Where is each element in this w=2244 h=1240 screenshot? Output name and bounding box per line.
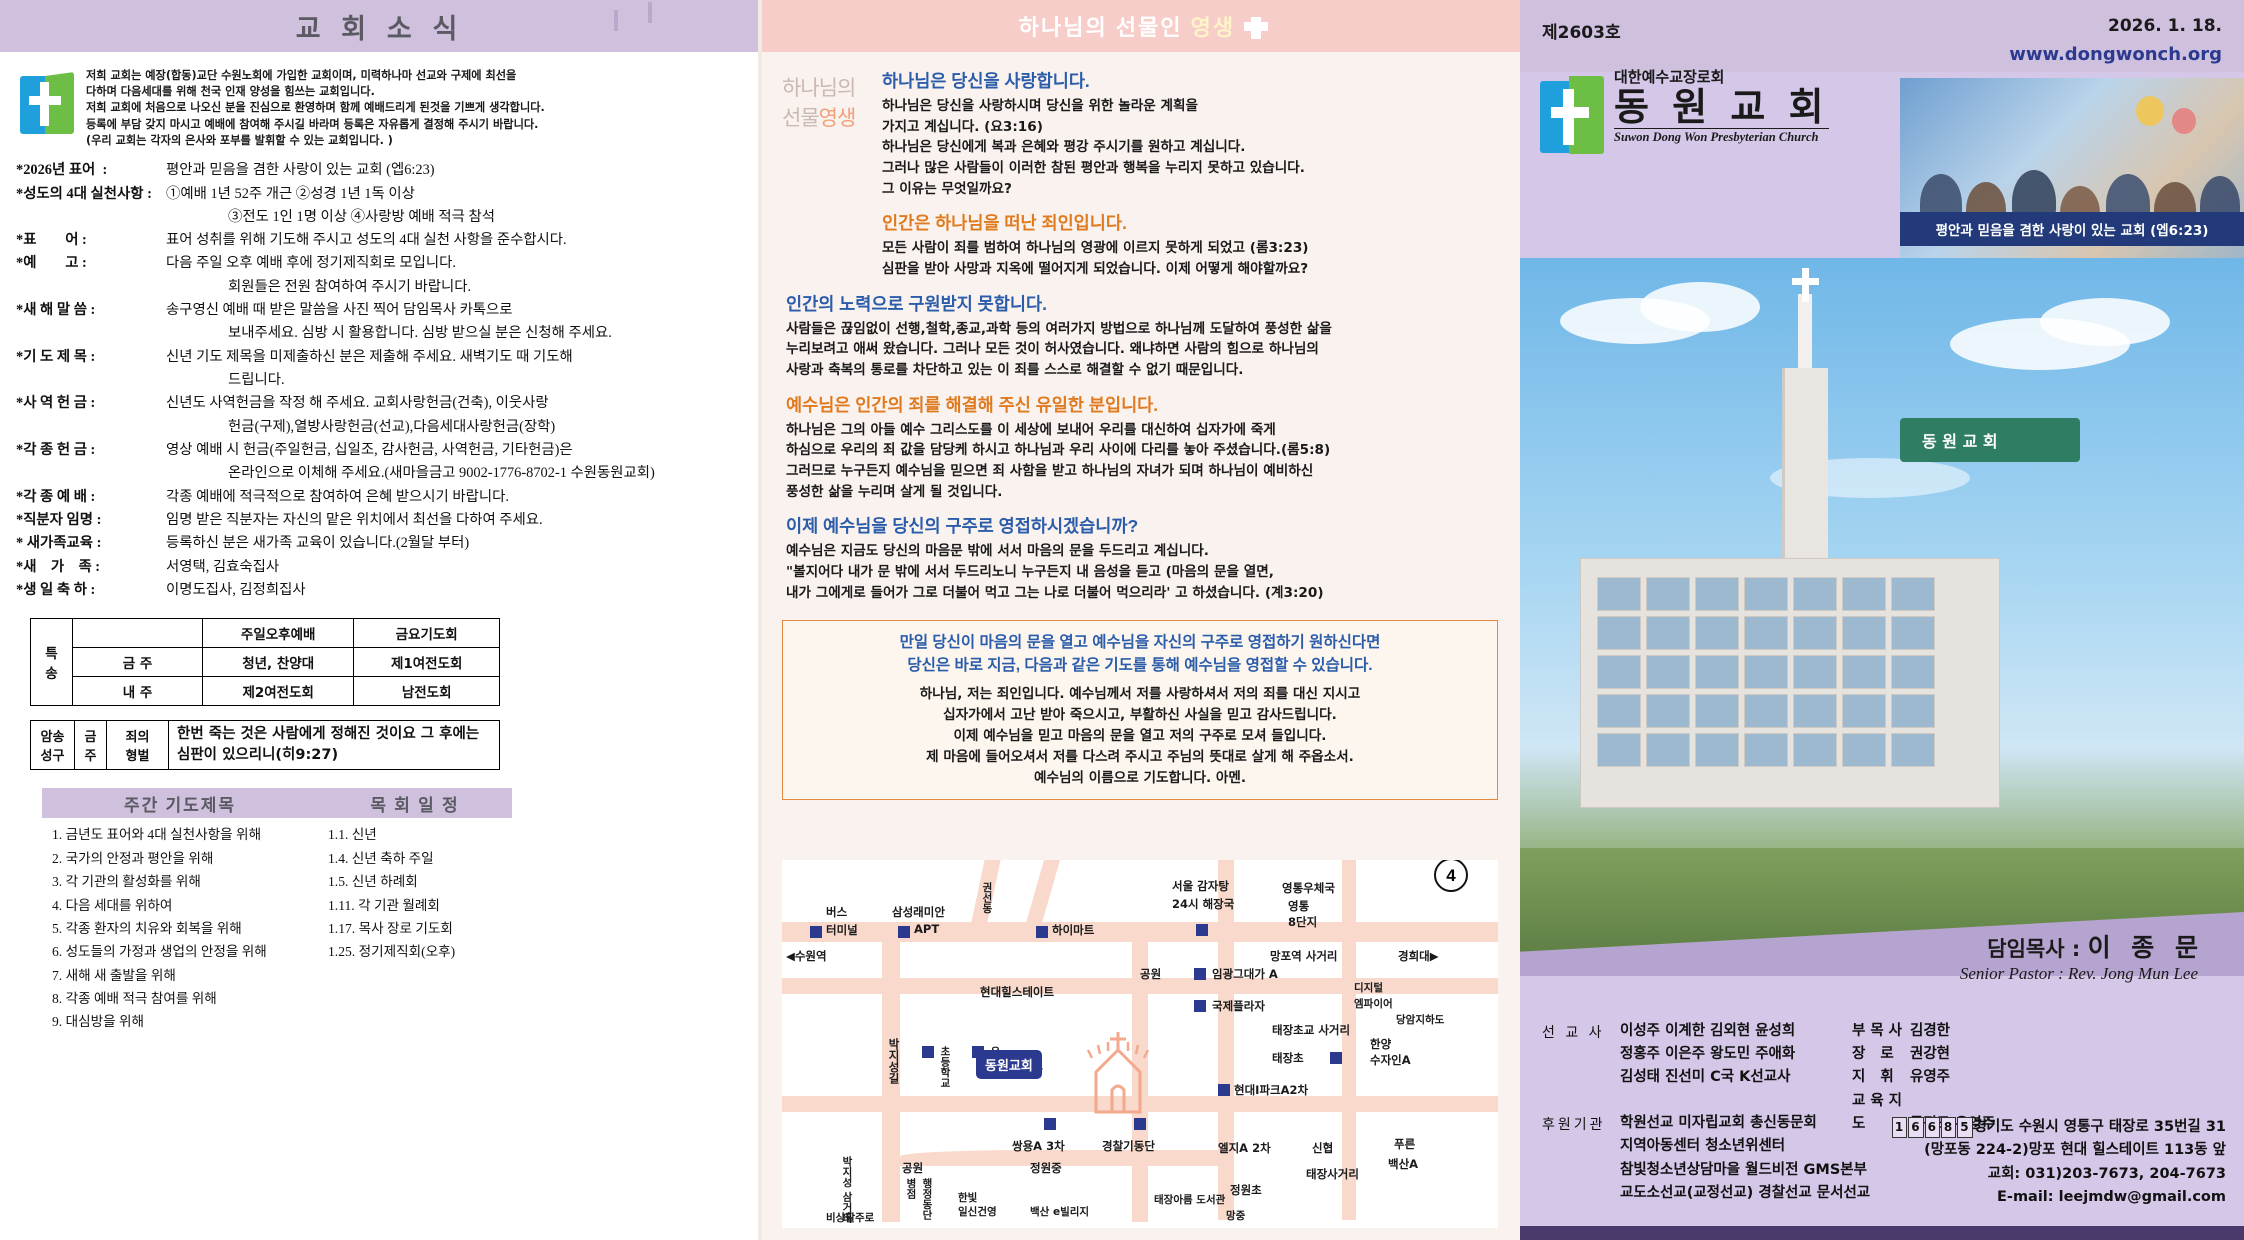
notice-label: *표 어 : [16,229,166,252]
missionaries-block: 선 교 사 이성주 이계한 김외현 윤성희 정홍주 이은주 왕도민 주애화 김성… [1542,1020,1795,1090]
missionary-list: 이성주 이계한 김외현 윤성희 정홍주 이은주 왕도민 주애화 김성태 진선미 … [1620,1020,1795,1090]
masthead-footer: 선 교 사 이성주 이계한 김외현 윤성희 정홍주 이은주 왕도민 주애화 김성… [1520,1008,2244,1240]
gospel-line: 하심으로 우리의 죄 값을 담당케 하시고 하나님과 우리 사이에 다리를 놓아… [786,440,1494,461]
gospel-line: 내가 그에게로 들어가 그로 더불어 먹고 그는 나로 더불어 먹으리라' 고 … [786,583,1494,604]
gospel-paragraph: 모든 사람이 죄를 범하여 하나님의 영광에 이르지 못하게 되었고 (롬3:2… [882,238,1494,279]
prayer-item: 1. 금년도 표어와 4대 실천사항을 위해 [42,823,318,846]
notice-row: * 새가족교육 :등록하신 분은 새가족 교육이 있습니다.(2월달 부터) [16,532,744,555]
church-logo-text: 대한예수교장로회 동 원 교 회 Suwon Dong Won Presbyte… [1614,66,1829,154]
schedule-item: 1.1. 신년 [318,823,512,846]
notice-row: *표 어 :표어 성취를 위해 기도해 주시고 성도의 4대 실천 사항을 준수… [16,229,744,252]
gospel-banner: 하나님의 선물인 영생 [760,0,1520,52]
staff-name: 유영주 [1910,1069,1950,1085]
column-divider [758,0,762,1240]
missionary-line: 이성주 이계한 김외현 윤성희 [1620,1020,1795,1043]
schedule-item: 1.11. 각 기관 월례회 [318,894,512,917]
staff-role: 지 휘 [1852,1066,1910,1089]
staff-role: 장 로 [1852,1043,1910,1066]
map-label: 당암지하도 [1396,1012,1444,1027]
prayer-item: 9. 대심방을 위해 [42,1010,318,1033]
postal-code: 16685 [1892,1116,1974,1139]
notice-value: 이명도집사, 김정희집사 [166,579,744,602]
map-label: 박지성길 [886,1038,902,1084]
pastor-name: 이 종 문 [2088,933,2204,962]
special-c2-cell: 제1여전도회 [354,648,500,677]
intro-block: 저희 교회는 예장(합동)교단 수원노회에 가입한 교회이며, 미력하나마 선교… [0,52,760,153]
gospel-banner-title: 하나님의 선물인 영생 [1019,10,1262,42]
pastor-name-english: Senior Pastor : Rev. Jong Mun Lee [1960,964,2198,984]
notice-value: 신년도 사역헌금을 작정 해 주세요. 교회사랑헌금(건축), 이웃사랑 [166,392,744,415]
gospel-line: 가지고 계십니다. (요3:16) [882,117,1494,138]
church-building-icon [1078,1028,1158,1118]
staff-name: 권강현 [1910,1046,1950,1062]
prayer-item: 4. 다음 세대를 위하여 [42,894,318,917]
church-news-column: 교 회 소 식 저희 교회는 예장(합동)교단 수원노회에 가입한 교회이며, … [0,0,760,1240]
support-list: 학원선교 미자립교회 총신동문회 지역아동센터 청소년위센터 참빛청소년상담마을… [1620,1112,1870,1206]
intro-text: 저희 교회는 예장(합동)교단 수원노회에 가입한 교회이며, 미력하나마 선교… [86,68,545,149]
footer-strip [1520,1226,2244,1240]
special-song-row-label: 특 송 [31,619,73,706]
gospel-heading: 인간의 노력으로 구원받지 못합니다. [786,291,1494,316]
gospel-line: 하나님은 당신을 사랑하시며 당신을 위한 놀라운 계획을 [882,96,1494,117]
notice-value: 각종 예배에 적극적으로 참여하여 은혜 받으시기 바랍니다. [166,486,744,509]
notice-label: * 새가족교육 : [16,532,166,555]
postal-digit: 5 [1957,1117,1972,1138]
memory-verse-text: 한번 죽는 것은 사람에게 정해진 것이요 그 후에는 심판이 있으리니(히9:… [169,721,500,770]
invitation-box: 만일 당신이 마음의 문을 열고 예수님을 자신의 구주로 영접하기 원하신다면… [782,620,1498,800]
issue-date: 2026. 1. 18. [2108,16,2222,36]
church-name-english: Suwon Dong Won Presbyterian Church [1614,128,1829,145]
church-roof-sign-text: 동 원 교 회 [1922,428,1998,452]
page-number-badge: 4 [1434,860,1468,892]
map-label: 망중 [1226,1208,1245,1223]
prayer-item: 8. 각종 예배 적극 참여를 위해 [42,987,318,1010]
prayer-and-schedule-block: 주간 기도제목 목 회 일 정 1. 금년도 표어와 4대 실천사항을 위해2.… [42,788,512,1033]
map-label: 8단지 [1288,914,1317,930]
notice-label: *직분자 임명 : [16,509,166,532]
memory-verse-table: 암송 성구 금 주 죄의 형벌 한번 죽는 것은 사람에게 정해진 것이요 그 … [30,720,500,770]
gospel-line: 사랑과 축복의 통로를 차단하고 있는 이 죄를 스스로 해결할 수 없기 때문… [786,360,1494,381]
notice-value: 헌금(구제),열방사랑헌금(선교),다음세대사랑헌금(장학) [166,416,744,439]
map-label: 쌍용A 3차 [1012,1138,1065,1154]
memory-verse-label: 암송 성구 [31,721,75,770]
map-label: 서울 감자탕 [1172,878,1229,894]
envelope-small-icon [648,4,652,22]
prayer-item: 7. 새해 새 출발을 위해 [42,964,318,987]
map-label: 한양 [1370,1036,1391,1052]
gospel-line: 사람들은 끊임없이 선행,철학,종교,과학 등의 여러가지 방법으로 하나님께 … [786,319,1494,340]
notice-value: 평안과 믿음을 겸한 사랑이 있는 교회 (엡6:23) [166,159,744,182]
prayer-schedule-body: 1. 금년도 표어와 4대 실천사항을 위해2. 국가의 안정과 평안을 위해3… [42,818,512,1033]
gospel-banner-title-a: 하나님의 선물인 [1019,15,1191,40]
notice-label: *새 해 말 씀 : [16,299,166,322]
invitation-prayer-line: 십자가에서 고난 받아 죽으시고, 부활하신 사실을 믿고 감사드립니다. [797,705,1483,726]
notice-value: 보내주세요. 심방 시 활용합니다. 심방 받으실 분은 신청해 주세요. [166,322,744,345]
church-door-cross-icon [20,72,74,134]
gospel-line: "볼지어다 내가 문 밖에 서서 두드리노니 누구든지 내 음성을 듣고 (마음… [786,562,1494,583]
gift-label-line1: 하나님의 [782,72,878,102]
church-name: 동 원 교 회 [1614,88,1829,126]
notice-row: *생 일 축 하 :이명도집사, 김정희집사 [16,579,744,602]
notice-value: 서영택, 김효숙집사 [166,556,744,579]
notice-value: 회원들은 전원 참여하여 주시기 바랍니다. [166,276,744,299]
notice-label: *생 일 축 하 : [16,579,166,602]
church-logo-block: 대한예수교장로회 동 원 교 회 Suwon Dong Won Presbyte… [1540,66,1829,154]
notice-row: *각 종 예 배 :각종 예배에 적극적으로 참여하여 은혜 받으시기 바랍니다… [16,486,744,509]
gospel-line: 예수님은 지금도 당신의 마음문 밖에 서서 마음의 문을 두드리고 계십니다. [786,541,1494,562]
pastor-bar: 담임목사 : 이 종 문 Senior Pastor : Rev. Jong M… [1520,920,2244,1012]
location-map: 4 버스 터미널 삼성래미안 APT 권선동 하이마트 ◀수원역 서울 감자탕 … [782,860,1498,1228]
map-label: 정원초 [1230,1182,1262,1198]
gift-label-2b: 영생 [819,106,856,130]
issue-number: 제2603호 [1542,18,1621,43]
map-label: 푸른 [1394,1136,1415,1152]
church-spire [1798,294,1812,374]
notice-label: *예 고 : [16,252,166,275]
map-label: 태장사거리 [1306,1166,1359,1182]
notice-row: ③전도 1인 1명 이상 ④사랑방 예배 적극 참석 [16,206,744,229]
map-label: 현대I파크A2차 [1234,1082,1308,1098]
address-street: 경기도 수원시 영통구 태장로 35번길 31 [1974,1119,2226,1135]
notice-label: *사 역 헌 금 : [16,392,166,415]
support-line: 학원선교 미자립교회 총신동문회 [1620,1112,1870,1135]
notice-row: *사 역 헌 금 :신년도 사역헌금을 작정 해 주세요. 교회사랑헌금(건축)… [16,392,744,415]
intro-line: 다하며 다음세대를 위해 천국 인재 양성을 힘쓰는 교회입니다. [86,84,545,100]
masthead-top-bar: 제2603호 2026. 1. 18. www.dongwonch.org [1520,0,2244,72]
masthead-column: 제2603호 2026. 1. 18. www.dongwonch.org 대한… [1520,0,2244,1240]
map-label: 태장초교 사거리 [1272,1022,1350,1038]
church-door-cross-icon [1540,76,1604,154]
table-row: 특 송 주일오후예배 금요기도회 [31,619,500,648]
map-label: 망포역 사거리 [1270,948,1337,964]
phone-line: 교회: 031)203-7673, 204-7673 [1892,1163,2226,1186]
notice-label: *성도의 4대 실천사항 : [16,183,166,206]
gospel-banner-title-b: 영생 [1191,15,1235,40]
notice-row: *각 종 헌 금 :영상 예배 시 헌금(주일헌금, 십일조, 감사헌금, 사역… [16,439,744,462]
map-label: 엠파이어 [1354,996,1393,1011]
gospel-line: 하나님은 당신에게 복과 은혜와 평강 주시기를 원하고 계십니다. [882,137,1494,158]
church-main-building [1580,558,2000,808]
gospel-line: 심판을 받아 사망과 지옥에 떨어지게 되었습니다. 이제 어떻게 해야할까요? [882,259,1494,280]
support-label: 후원기관 [1542,1112,1620,1206]
map-label: 경희대▶ [1398,948,1439,964]
gospel-heading: 하나님은 당신을 사랑합니다. [882,68,1494,93]
intro-line: 저희 교회는 예장(합동)교단 수원노회에 가입한 교회이며, 미력하나마 선교… [86,68,545,84]
invitation-heading-line: 만일 당신이 마음의 문을 열고 예수님을 자신의 구주로 영접하기 원하신다면 [797,631,1483,654]
map-label: 일신건영 [958,1204,997,1219]
map-label: 정원중 [1030,1160,1062,1176]
staff-name: 김경한 [1910,1023,1950,1039]
memory-verse-topic: 죄의 형벌 [107,721,169,770]
map-label: ◀수원역 [786,948,827,964]
gospel-line: 그 이유는 무엇일까요? [882,179,1494,200]
gospel-line: 모든 사람이 죄를 범하여 하나님의 영광에 이르지 못하게 되었고 (롬3:2… [882,238,1494,259]
table-row: 내 주 제2여전도회 남전도회 [31,677,500,706]
gospel-paragraph: 하나님은 당신을 사랑하시며 당신을 위한 놀라운 계획을가지고 계십니다. (… [882,96,1494,199]
missionary-label: 선 교 사 [1542,1020,1620,1090]
map-label: APT [914,922,939,936]
staff-row: 장 로권강현 [1852,1043,1995,1066]
notice-label: *2026년 표어 : [16,159,166,182]
church-building-photo: 동 원 교 회 [1520,258,2244,958]
notice-row: 보내주세요. 심방 시 활용합니다. 심방 받으실 분은 신청해 주세요. [16,322,744,345]
map-label: 태장초 [1272,1050,1304,1066]
address-block: 16685경기도 수원시 영통구 태장로 35번길 31 (망포동 224-2)… [1892,1116,2226,1210]
gospel-line: 그러나 많은 사람들이 이러한 참된 평안과 행복을 누리지 못하고 있습니다. [882,158,1494,179]
map-label: 국제플라자 [1212,998,1265,1014]
intro-line: 저희 교회에 처음으로 나오신 분을 진심으로 환영하며 함께 예배드리게 된것… [86,100,545,116]
prayer-item: 5. 각종 환자의 치유와 회복을 위해 [42,917,318,940]
notice-value: 표어 성취를 위해 기도해 주시고 성도의 4대 실천 사항을 준수합시다. [166,229,744,252]
notice-row: 헌금(구제),열방사랑헌금(선교),다음세대사랑헌금(장학) [16,416,744,439]
map-label: 백산A [1388,1156,1418,1172]
map-label: 하이마트 [1052,922,1094,938]
notice-label: *기 도 제 목 : [16,346,166,369]
memory-verse-week: 금 주 [75,721,107,770]
invitation-heading-line: 당신은 바로 지금, 다음과 같은 기도를 통해 예수님을 영접할 수 있습니다… [797,654,1483,677]
address-line-1: 16685경기도 수원시 영통구 태장로 35번길 31 [1892,1116,2226,1139]
missionary-line: 정홍주 이은주 왕도민 주애화 [1620,1043,1795,1066]
map-label: 비상활주로 [826,1210,874,1225]
map-label: 병점 [904,1178,919,1199]
church-name-bubble: 동원교회 [976,1050,1042,1079]
special-c1-cell: 제2여전도회 [203,677,354,706]
schedule-item: 1.4. 신년 축하 주일 [318,847,512,870]
prayer-heading: 주간 기도제목 [42,791,318,816]
gospel-paragraph: 예수님은 지금도 당신의 마음문 밖에 서서 마음의 문을 두드리고 계십니다.… [786,541,1494,603]
pastor-label: 담임목사 : [1987,937,2080,961]
postal-digit: 1 [1892,1117,1907,1138]
invitation-prayer-line: 하나님, 저는 죄인입니다. 예수님께서 저를 사랑하셔서 저의 죄를 대신 지… [797,684,1483,705]
staff-row: 부목사김경한 [1852,1020,1995,1043]
prayer-item: 2. 국가의 안정과 평안을 위해 [42,847,318,870]
map-label: 권선동 [980,882,995,914]
schedule-heading: 목 회 일 정 [318,791,512,816]
schedule-item: 1.5. 신년 하례회 [318,870,512,893]
map-label: 행정동단 [920,1178,935,1220]
notice-row: *새 해 말 씀 :송구영신 예배 때 받은 말씀을 사진 찍어 담임목사 카톡… [16,299,744,322]
notice-label: *새 가 족 : [16,556,166,579]
notice-row: *예 고 :다음 주일 오후 예배 후에 정기제직회로 모입니다. [16,252,744,275]
map-label: 현대힐스테이트 [980,984,1054,1000]
envelope-icon [614,12,618,30]
map-label: 디지털 [1354,980,1383,995]
support-orgs-block: 후원기관 학원선교 미자립교회 총신동문회 지역아동센터 청소년위센터 참빛청소… [1542,1112,1870,1206]
gospel-column: 하나님의 선물인 영생 하나님의 선물영생 하나님은 당신을 사랑합니다.하나님… [760,0,1520,1240]
prayer-item: 3. 각 기관의 활성화를 위해 [42,870,318,893]
notice-value: ③전도 1인 1명 이상 ④사랑방 예배 적극 참석 [166,206,744,229]
gospel-line: 누리보려고 애써 왔습니다. 그러나 모든 것이 허사였습니다. 왜냐하면 사람… [786,339,1494,360]
map-label: 영통 [1288,898,1309,914]
notice-value: ①예배 1년 52주 개근 ②성경 1년 1독 이상 [166,183,744,206]
support-line: 참빛청소년상담마을 월드비전 GMS본부 [1620,1159,1870,1182]
gospel-line: 풍성한 삶을 누리며 살게 될 것입니다. [786,482,1494,503]
church-news-banner: 교 회 소 식 [0,0,760,52]
intro-line: 등록에 부담 갖지 마시고 예배에 참여해 주시길 바라며 등록은 자유롭게 결… [86,117,545,133]
notice-row: *기 도 제 목 :신년 기도 제목을 미제출하신 분은 제출해 주세요. 새벽… [16,346,744,369]
schedule-item: 1.25. 정기제직회(오후) [318,940,512,963]
gospel-heading: 이제 예수님을 당신의 구주로 영접하시겠습니까? [786,513,1494,538]
gospel-paragraph: 하나님은 그의 아들 예수 그리스도를 이 세상에 보내어 우리를 대신하여 십… [786,420,1494,503]
notice-value: 임명 받은 직분자는 자신의 맡은 위치에서 최선을 다하여 주세요. [166,509,744,532]
notice-value: 온라인으로 이체해 주세요.(새마을금고 9002-1776-8702-1 수원… [166,462,744,485]
notice-row: 회원들은 전원 참여하여 주시기 바랍니다. [16,276,744,299]
special-song-table: 특 송 주일오후예배 금요기도회 금 주 청년, 찬양대 제1여전도회 내 주 … [30,618,500,706]
invitation-prayer: 하나님, 저는 죄인입니다. 예수님께서 저를 사랑하셔서 저의 죄를 대신 지… [797,684,1483,789]
invitation-prayer-line: 이제 예수님을 믿고 마음의 문을 열고 저의 구주로 모셔 들입니다. [797,726,1483,747]
gospel-heading: 예수님은 인간의 죄를 해결해 주신 유일한 분입니다. [786,392,1494,417]
cross-icon [1251,17,1261,39]
notice-row: *2026년 표어 :평안과 믿음을 겸한 사랑이 있는 교회 (엡6:23) [16,159,744,182]
notice-value: 영상 예배 시 헌금(주일헌금, 십일조, 감사헌금, 사역헌금, 기타헌금)은 [166,439,744,462]
pastor-title-and-name: 담임목사 : 이 종 문 [1987,928,2204,964]
schedule-items-list: 1.1. 신년1.4. 신년 축하 주일1.5. 신년 하례회1.11. 각 기… [318,823,512,1033]
special-when-cell [73,619,203,648]
church-news-title: 교 회 소 식 [296,7,465,46]
map-label: 신협 [1312,1140,1333,1156]
gospel-line: 하나님은 그의 아들 예수 그리스도를 이 세상에 보내어 우리를 대신하여 십… [786,420,1494,441]
special-when-cell: 금 주 [73,648,203,677]
gospel-paragraph: 사람들은 끊임없이 선행,철학,종교,과학 등의 여러가지 방법으로 하나님께 … [786,319,1494,381]
map-label: 엘지A 2차 [1218,1140,1271,1156]
prayer-item: 6. 성도들의 가정과 생업의 안정을 위해 [42,940,318,963]
map-label: 경찰기동단 [1102,1138,1155,1154]
staff-role: 부목사 [1852,1020,1910,1043]
postal-digit: 6 [1925,1117,1940,1138]
address-line-2: (망포동 224-2)망포 현대 힐스테이트 113동 앞 [1892,1139,2226,1162]
notice-list: *2026년 표어 :평안과 믿음을 겸한 사랑이 있는 교회 (엡6:23)*… [0,153,760,602]
map-label: 영통우체국 [1282,880,1335,896]
map-label: 한빛 [958,1190,977,1205]
notice-row: *직분자 임명 :임명 받은 직분자는 자신의 맡은 위치에서 최선을 다하여 … [16,509,744,532]
special-c2-cell: 금요기도회 [354,619,500,648]
gospel-body: 하나님의 선물영생 하나님은 당신을 사랑합니다.하나님은 당신을 사랑하시며 … [760,52,1520,614]
map-label: 백산 e빌리지 [1030,1204,1089,1219]
table-row: 암송 성구 금 주 죄의 형벌 한번 죽는 것은 사람에게 정해진 것이요 그 … [31,721,500,770]
postal-digit: 8 [1941,1117,1956,1138]
special-c2-cell: 남전도회 [354,677,500,706]
year-slogan-banner: 평안과 믿음을 겸한 사랑이 있는 교회 (엡6:23) [1900,212,2244,246]
special-c1-cell: 청년, 찬양대 [203,648,354,677]
prayer-items-list: 1. 금년도 표어와 4대 실천사항을 위해2. 국가의 안정과 평안을 위해3… [42,823,318,1033]
notice-row: 온라인으로 이체해 주세요.(새마을금고 9002-1776-8702-1 수원… [16,462,744,485]
map-label: 터미널 [826,922,858,938]
intro-line: (우리 교회는 각자의 은사와 포부를 발휘할 수 있는 교회입니다. ) [86,133,545,149]
invitation-prayer-line: 예수님의 이름으로 기도합니다. 아멘. [797,768,1483,789]
notice-value: 송구영신 예배 때 받은 말씀을 사진 찍어 담임목사 카톡으로 [166,299,744,322]
gospel-sections: 하나님은 당신을 사랑합니다.하나님은 당신을 사랑하시며 당신을 위한 놀라운… [878,66,1494,614]
map-label: 태장아름 도서관 [1154,1192,1225,1207]
email-line[interactable]: E-mail: leejmdw@gmail.com [1892,1186,2226,1209]
notice-label: *각 종 예 배 : [16,486,166,509]
notice-value: 신년 기도 제목을 미제출하신 분은 제출해 주세요. 새벽기도 때 기도해 [166,346,744,369]
gospel-line: 그러므로 누구든지 예수님을 믿으면 죄 사함을 받고 하나님의 자녀가 되며 … [786,461,1494,482]
map-label: 삼성래미안 [892,904,945,920]
map-label: 공원 [902,1160,923,1176]
denomination-label: 대한예수교장로회 [1614,66,1829,87]
notice-value: 등록하신 분은 새가족 교육이 있습니다.(2월달 부터) [166,532,744,555]
staff-row: 지 휘유영주 [1852,1066,1995,1089]
invitation-heading: 만일 당신이 마음의 문을 열고 예수님을 자신의 구주로 영접하기 원하신다면… [797,631,1483,678]
postal-digit: 6 [1908,1117,1923,1138]
support-line: 지역아동센터 청소년위센터 [1620,1135,1870,1158]
notice-label: *각 종 헌 금 : [16,439,166,462]
notice-value: 다음 주일 오후 예배 후에 정기제직회로 모입니다. [166,252,744,275]
bulletin-page: 교 회 소 식 저희 교회는 예장(합동)교단 수원노회에 가입한 교회이며, … [0,0,2244,1240]
church-location-marker: 동원교회 [1078,1028,1158,1123]
website-link[interactable]: www.dongwonch.org [2009,44,2222,65]
map-label: 임광그대가 A [1212,966,1278,982]
map-label: 수자인A [1370,1052,1411,1068]
schedule-item: 1.17. 목사 장로 기도회 [318,917,512,940]
gift-label-2a: 선물 [782,106,819,130]
map-label: 초등학교 [938,1046,953,1088]
gospel-heading: 인간은 하나님을 떠난 죄인입니다. [882,210,1494,235]
prayer-schedule-header: 주간 기도제목 목 회 일 정 [42,788,512,818]
notice-value: 드립니다. [166,369,744,392]
special-when-cell: 내 주 [73,677,203,706]
map-label: 버스 [826,904,847,920]
notice-row: 드립니다. [16,369,744,392]
notice-row: *새 가 족 :서영택, 김효숙집사 [16,556,744,579]
invitation-prayer-line: 제 마음에 들어오셔서 저를 다스려 주시고 주님의 뜻대로 살게 해 주옵소서… [797,747,1483,768]
support-line: 교도소선교(교정선교) 경찰선교 문서선교 [1620,1182,1870,1205]
notice-row: *성도의 4대 실천사항 :①예배 1년 52주 개근 ②성경 1년 1독 이상 [16,183,744,206]
special-c1-cell: 주일오후예배 [203,619,354,648]
map-label: 24시 해장국 [1172,896,1234,912]
map-label: 공원 [1140,966,1161,982]
missionary-line: 김성태 진선미 C국 K선교사 [1620,1066,1795,1089]
table-row: 금 주 청년, 찬양대 제1여전도회 [31,648,500,677]
spire-cross-icon [1802,268,1809,302]
gift-label-line2: 선물영생 [782,102,878,132]
